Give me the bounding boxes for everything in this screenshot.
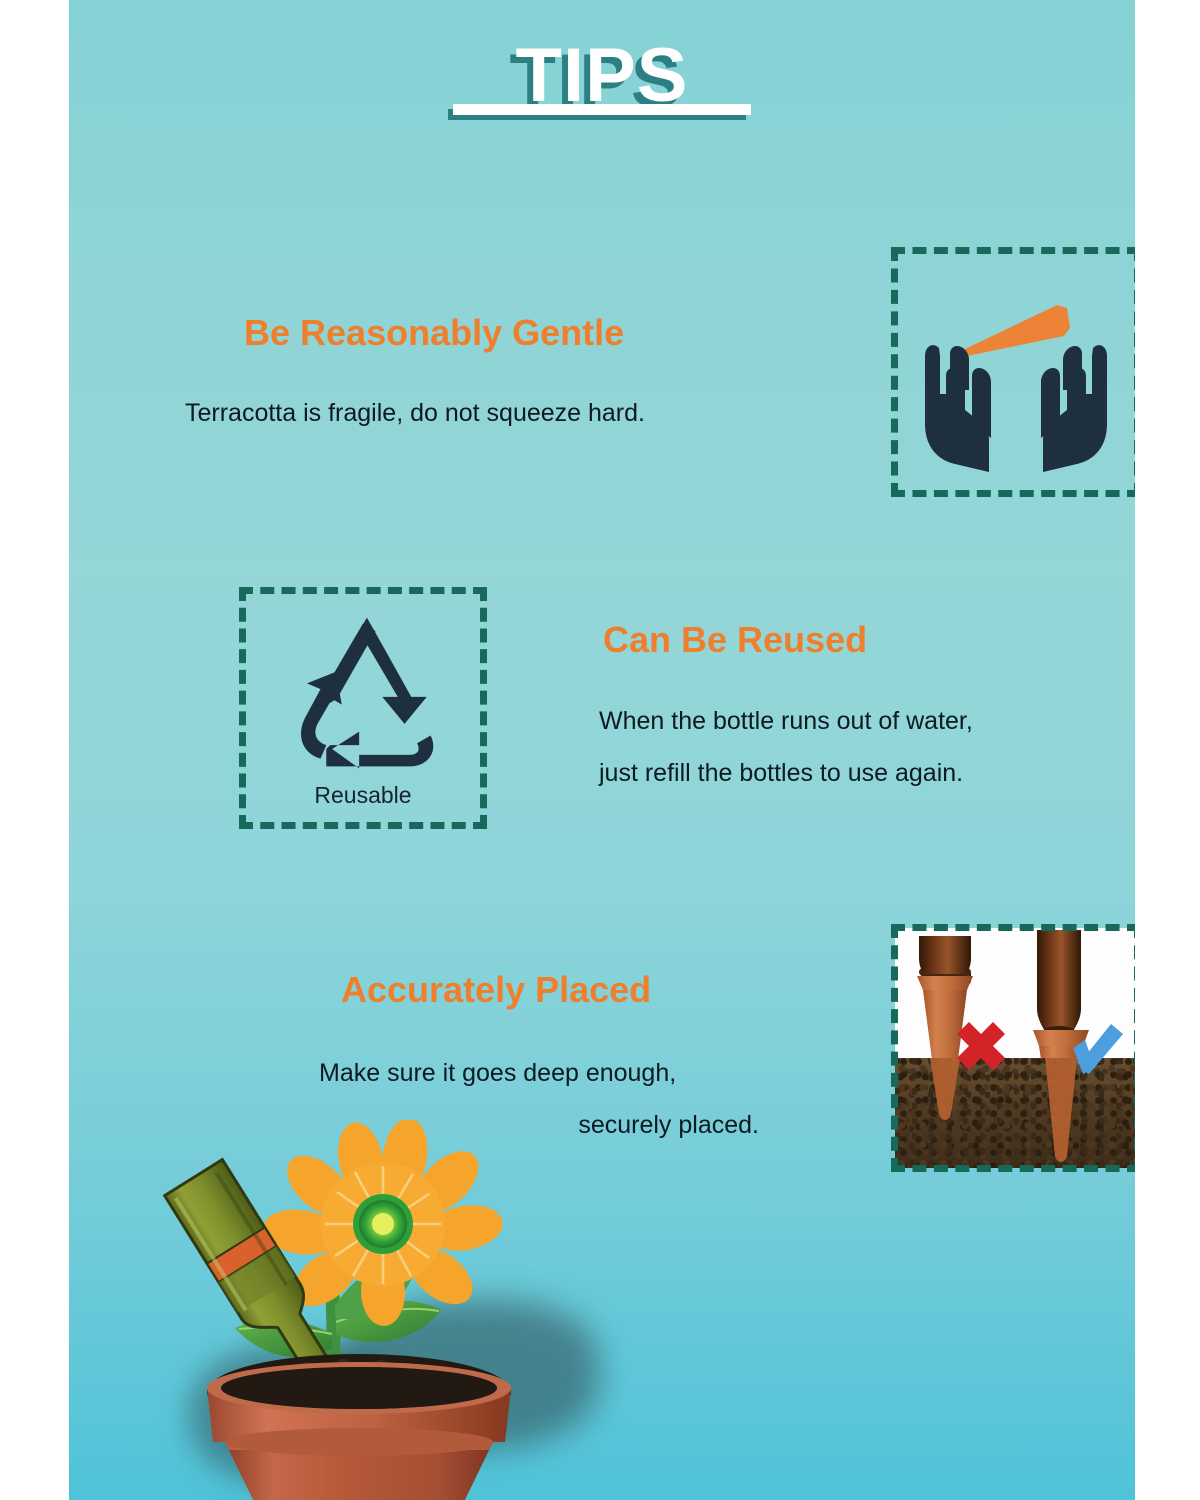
tip-3-heading: Accurately Placed (341, 970, 651, 1010)
tip-2-body-line-2: just refill the bottles to use again. (599, 752, 963, 796)
tip-3-body-line-1: Make sure it goes deep enough, (319, 1052, 676, 1096)
tip-1-body-line-1: Terracotta is fragile, do not squeeze ha… (185, 392, 645, 436)
tip-2-body-line-1: When the bottle runs out of water, (599, 700, 973, 744)
tip-3-icon-frame (891, 924, 1135, 1172)
tip-2-heading: Can Be Reused (603, 620, 867, 660)
title-underline-wrap (69, 102, 1135, 120)
infographic-panel: TIPS Be Reasonably Gentle Terracotta is … (69, 0, 1135, 1500)
title-underline (453, 104, 751, 115)
potted-flower-with-bottle (129, 1120, 589, 1500)
handle-with-care-icon (907, 264, 1125, 482)
recycle-icon (265, 608, 461, 778)
tip-1-heading: Be Reasonably Gentle (244, 313, 624, 353)
reusable-caption: Reusable (239, 782, 487, 809)
